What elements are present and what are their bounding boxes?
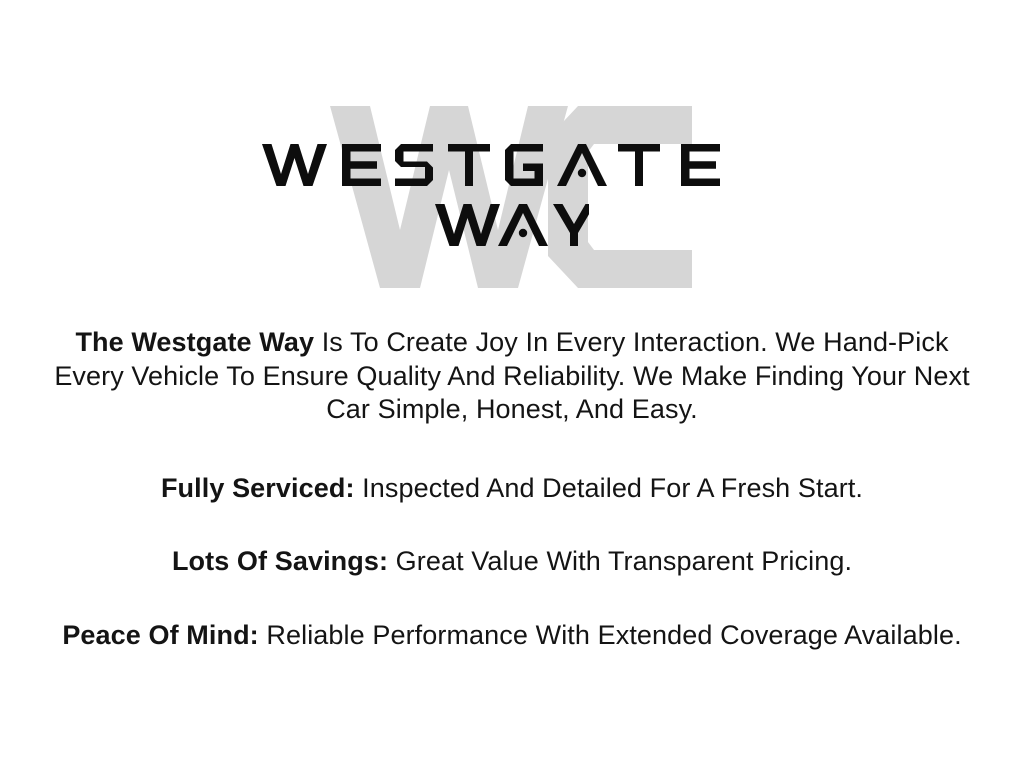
logo-block (0, 0, 1024, 300)
feature-text: Inspected And Detailed For A Fresh Start… (355, 473, 863, 503)
logo-wordmark-westgate (262, 143, 762, 187)
logo-lockup (0, 0, 1024, 300)
feature-fully-serviced: Fully Serviced: Inspected And Detailed F… (22, 472, 1002, 506)
promo-slide: The Westgate Way Is To Create Joy In Eve… (0, 0, 1024, 768)
feature-label: Peace Of Mind: (62, 620, 258, 650)
feature-label: Lots Of Savings: (172, 546, 388, 576)
copy-block: The Westgate Way Is To Create Joy In Eve… (0, 326, 1024, 652)
feature-lots-of-savings: Lots Of Savings: Great Value With Transp… (22, 545, 1002, 579)
feature-peace-of-mind: Peace Of Mind: Reliable Performance With… (22, 619, 1002, 653)
feature-text: Great Value With Transparent Pricing. (388, 546, 852, 576)
logo-wordmark-way (435, 203, 589, 247)
intro-paragraph: The Westgate Way Is To Create Joy In Eve… (48, 326, 976, 427)
feature-label: Fully Serviced: (161, 473, 355, 503)
intro-lead: The Westgate Way (75, 327, 314, 357)
feature-text: Reliable Performance With Extended Cover… (259, 620, 962, 650)
